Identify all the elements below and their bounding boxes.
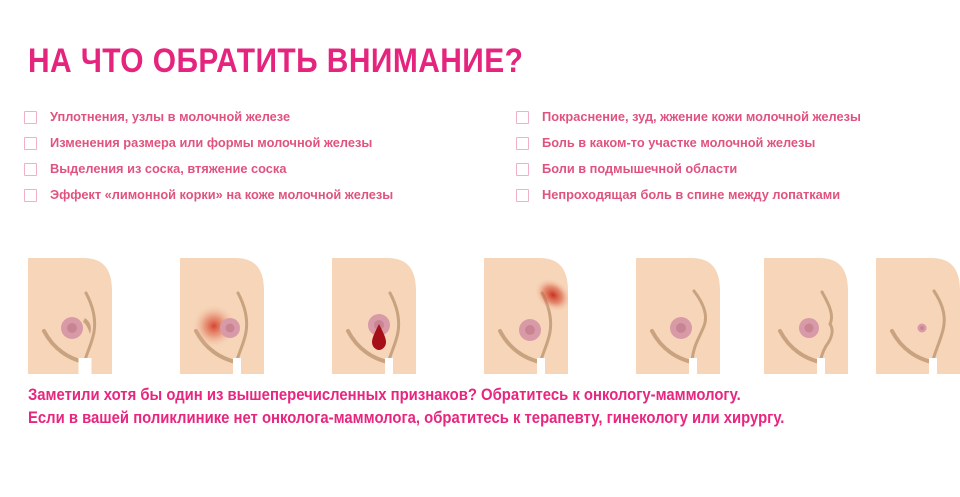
checkbox-icon[interactable] (516, 111, 529, 124)
call-to-action-note: Заметили хотя бы один из вышеперечисленн… (28, 384, 940, 430)
checkbox-icon[interactable] (516, 137, 529, 150)
checkbox-icon[interactable] (516, 163, 529, 176)
breast-illustration-lump-nodule (28, 258, 129, 374)
breast-illustration-redness-inflammation (180, 258, 281, 374)
illustration-row (0, 258, 960, 376)
checklist-item[interactable]: Непроходящая боль в спине между лопаткам… (516, 186, 946, 203)
checklist-item-label: Непроходящая боль в спине между лопаткам… (542, 186, 840, 203)
checklist-right-column: Покраснение, зуд, жжение кожи молочной ж… (516, 108, 946, 212)
checklist-item-label: Уплотнения, узлы в молочной железе (50, 108, 290, 125)
checklist-item[interactable]: Выделения из соска, втяжение соска (24, 160, 494, 177)
checklist-item-label: Выделения из соска, втяжение соска (50, 160, 286, 177)
checkbox-icon[interactable] (516, 189, 529, 202)
infographic-page: НА ЧТО ОБРАТИТЬ ВНИМАНИЕ? Уплотнения, уз… (0, 0, 960, 497)
note-line-1: Заметили хотя бы один из вышеперечисленн… (28, 384, 849, 407)
checkbox-icon[interactable] (24, 163, 37, 176)
checkbox-icon[interactable] (24, 137, 37, 150)
checklist-left-column: Уплотнения, узлы в молочной железе Измен… (24, 108, 494, 212)
checklist-item-label: Боли в подмышечной области (542, 160, 737, 177)
checkbox-icon[interactable] (24, 189, 37, 202)
breast-illustration-nipple-discharge (332, 258, 433, 374)
note-line-2: Если в вашей поликлинике нет онколога-ма… (28, 407, 849, 430)
checklist-item-label: Изменения размера или формы молочной жел… (50, 134, 372, 151)
breast-illustration-nipple-retraction (876, 258, 960, 374)
checklist: Уплотнения, узлы в молочной железе Измен… (0, 108, 960, 248)
checklist-item[interactable]: Эффект «лимонной корки» на коже молочной… (24, 186, 494, 203)
page-title: НА ЧТО ОБРАТИТЬ ВНИМАНИЕ? (28, 44, 523, 78)
checklist-item-label: Эффект «лимонной корки» на коже молочной… (50, 186, 393, 203)
checklist-item-label: Боль в каком-то участке молочной железы (542, 134, 815, 151)
breast-illustration-shape-change (636, 258, 737, 374)
checklist-item[interactable]: Боль в каком-то участке молочной железы (516, 134, 946, 151)
checklist-item[interactable]: Покраснение, зуд, жжение кожи молочной ж… (516, 108, 946, 125)
checklist-item[interactable]: Боли в подмышечной области (516, 160, 946, 177)
checklist-item[interactable]: Изменения размера или формы молочной жел… (24, 134, 494, 151)
checklist-item[interactable]: Уплотнения, узлы в молочной железе (24, 108, 494, 125)
breast-illustration-contour-irregularity (764, 258, 865, 374)
breast-illustration-localized-pain (484, 258, 585, 374)
checklist-item-label: Покраснение, зуд, жжение кожи молочной ж… (542, 108, 861, 125)
checkbox-icon[interactable] (24, 111, 37, 124)
